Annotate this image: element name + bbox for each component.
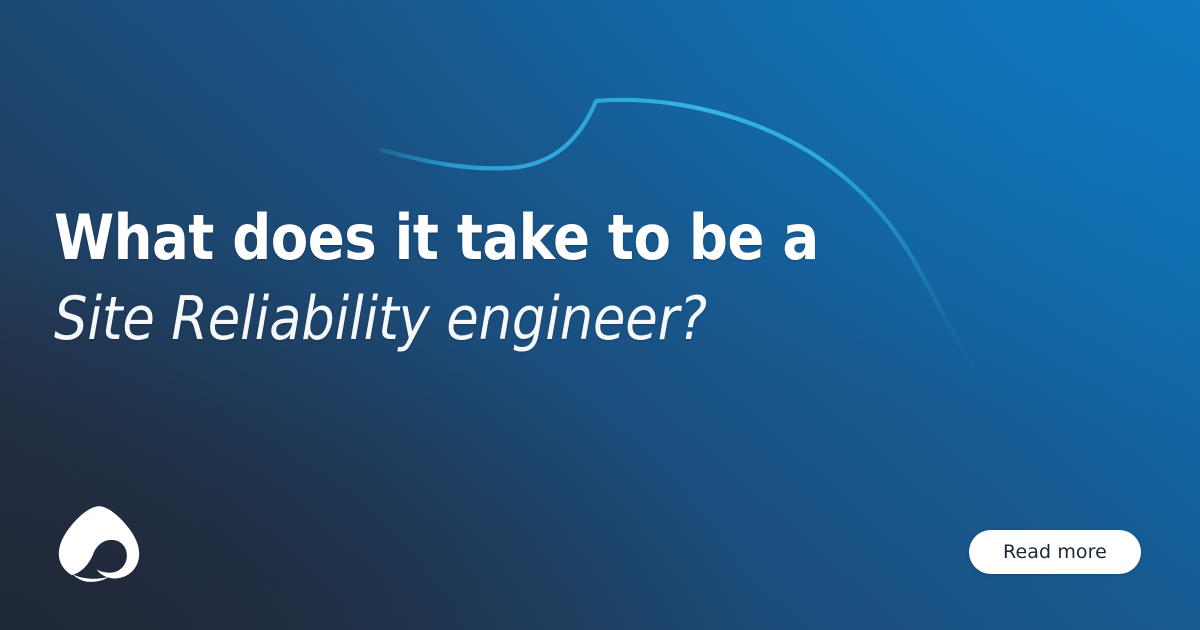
brand-logo-icon <box>58 503 140 585</box>
headline: What does it take to be a Site Reliabili… <box>54 198 874 360</box>
social-share-card: What does it take to be a Site Reliabili… <box>0 0 1200 630</box>
read-more-button[interactable]: Read more <box>969 530 1141 574</box>
headline-line-1: What does it take to be a <box>54 198 776 278</box>
headline-line-2: Site Reliability engineer? <box>54 278 776 360</box>
